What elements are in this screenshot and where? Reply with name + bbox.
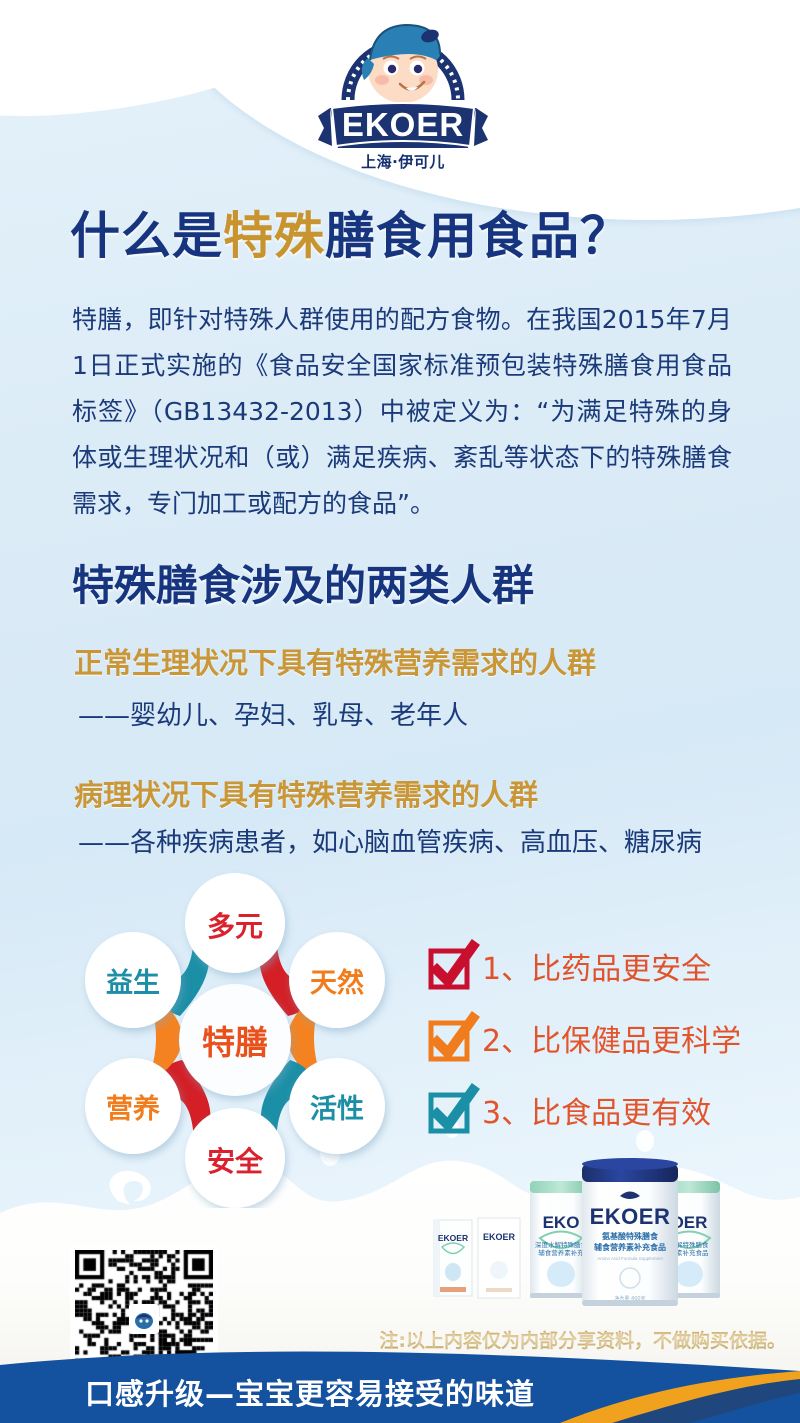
svg-text:活性: 活性 — [310, 1094, 364, 1125]
group-detail-normal: ——婴幼儿、孕妇、乳母、老年人 — [78, 695, 468, 732]
checklist-label: 3、比食品更有效 — [482, 1088, 711, 1132]
product-can-featured: EKOER 氨基酸特殊膳食 辅食营养素补充食品 Amino Acid Formu… — [582, 1158, 678, 1306]
checklist-item: 2、比保健品更科学 — [428, 1002, 741, 1074]
checklist-item: 1、比药品更安全 — [428, 930, 741, 1002]
checklist-item: 3、比食品更有效 — [428, 1074, 741, 1146]
svg-text:安全: 安全 — [207, 1145, 264, 1178]
title-suffix: 膳食用食品？ — [325, 207, 631, 265]
hex-node: 活性 — [289, 1058, 385, 1154]
ekoer-mascot-icon — [129, 1304, 159, 1334]
disclaimer-note: 注:以上内容仅为内部分享资料，不做购买依据。 — [379, 1326, 786, 1353]
checkbox-checked-icon — [428, 1090, 468, 1130]
footer-bar: 口感升级—宝宝更容易接受的味道 — [0, 1351, 800, 1423]
product-box: EKOER — [434, 1220, 472, 1296]
svg-text:辅食营养素补充: 辅食营养素补充 — [538, 1248, 584, 1257]
title-highlight: 特殊 — [223, 207, 325, 265]
section-title: 特殊膳食涉及的两类人群 — [72, 552, 534, 613]
title-prefix: 什么是 — [70, 207, 223, 265]
svg-text:EKOER: EKOER — [438, 1233, 468, 1243]
hex-center: 特膳 — [179, 984, 291, 1096]
brand-sublabel: 上海·伊可儿 — [318, 151, 488, 172]
hex-node: 益生 — [85, 932, 181, 1028]
svg-text:Amino Acid Formula Supplement: Amino Acid Formula Supplement — [597, 1256, 663, 1261]
svg-text:辅食营养素补充食品: 辅食营养素补充食品 — [594, 1242, 666, 1252]
baby-mascot-icon: EKOER — [318, 8, 488, 158]
hex-node: 天然 — [289, 932, 385, 1028]
hex-node: 多元 — [185, 873, 285, 973]
product-lineup-image: EKOER EKOER EKO 深度水解特殊膳食 辅食营养素补充 — [430, 1148, 790, 1338]
svg-text:深度水解特殊膳食: 深度水解特殊膳食 — [535, 1240, 588, 1249]
group-heading-pathological: 病理状况下具有特殊营养需求的人群 — [74, 772, 538, 814]
checklist-label: 1、比药品更安全 — [482, 944, 711, 988]
svg-text:EKO: EKO — [543, 1213, 580, 1232]
group-detail-pathological: ——各种疾病患者，如心脑血管疾病、高血压、糖尿病 — [78, 822, 702, 859]
hexagon-diagram: 多元 天然 活性 安全 营养 益生 — [62, 868, 402, 1208]
svg-text:EKOER: EKOER — [483, 1232, 516, 1242]
page-title: 什么是特殊膳食用食品？ — [70, 196, 631, 268]
svg-text:益生: 益生 — [106, 968, 160, 999]
svg-text:EKOER: EKOER — [590, 1204, 671, 1229]
svg-text:氨基酸特殊膳食: 氨基酸特殊膳食 — [602, 1231, 659, 1241]
checkbox-checked-icon — [428, 1018, 468, 1058]
brand-logo: EKOER 上海·伊可儿 — [318, 8, 488, 176]
svg-text:营养: 营养 — [106, 1093, 160, 1125]
checkbox-checked-icon — [428, 946, 468, 986]
poster-root: EKOER 上海·伊可儿 什么是特殊膳食用食品？ 特膳，即针对特殊人群使用的配方… — [0, 0, 800, 1423]
footer-slogan: 口感升级—宝宝更容易接受的味道 — [85, 1371, 535, 1413]
checklist-label: 2、比保健品更科学 — [482, 1016, 741, 1060]
group-heading-normal: 正常生理状况下具有特殊营养需求的人群 — [74, 640, 596, 682]
svg-text:多元: 多元 — [207, 910, 263, 943]
hex-node: 营养 — [85, 1058, 181, 1154]
intro-paragraph: 特膳，即针对特殊人群使用的配方食物。在我国2015年7月1日正式实施的《食品安全… — [72, 297, 732, 527]
product-box: EKOER — [478, 1218, 520, 1298]
svg-text:特膳: 特膳 — [202, 1023, 268, 1062]
svg-text:EKOER: EKOER — [342, 106, 464, 143]
hex-node: 安全 — [185, 1108, 285, 1208]
benefits-checklist: 1、比药品更安全 2、比保健品更科学 3、比食品更有效 — [428, 930, 741, 1146]
svg-text:天然: 天然 — [310, 967, 364, 999]
